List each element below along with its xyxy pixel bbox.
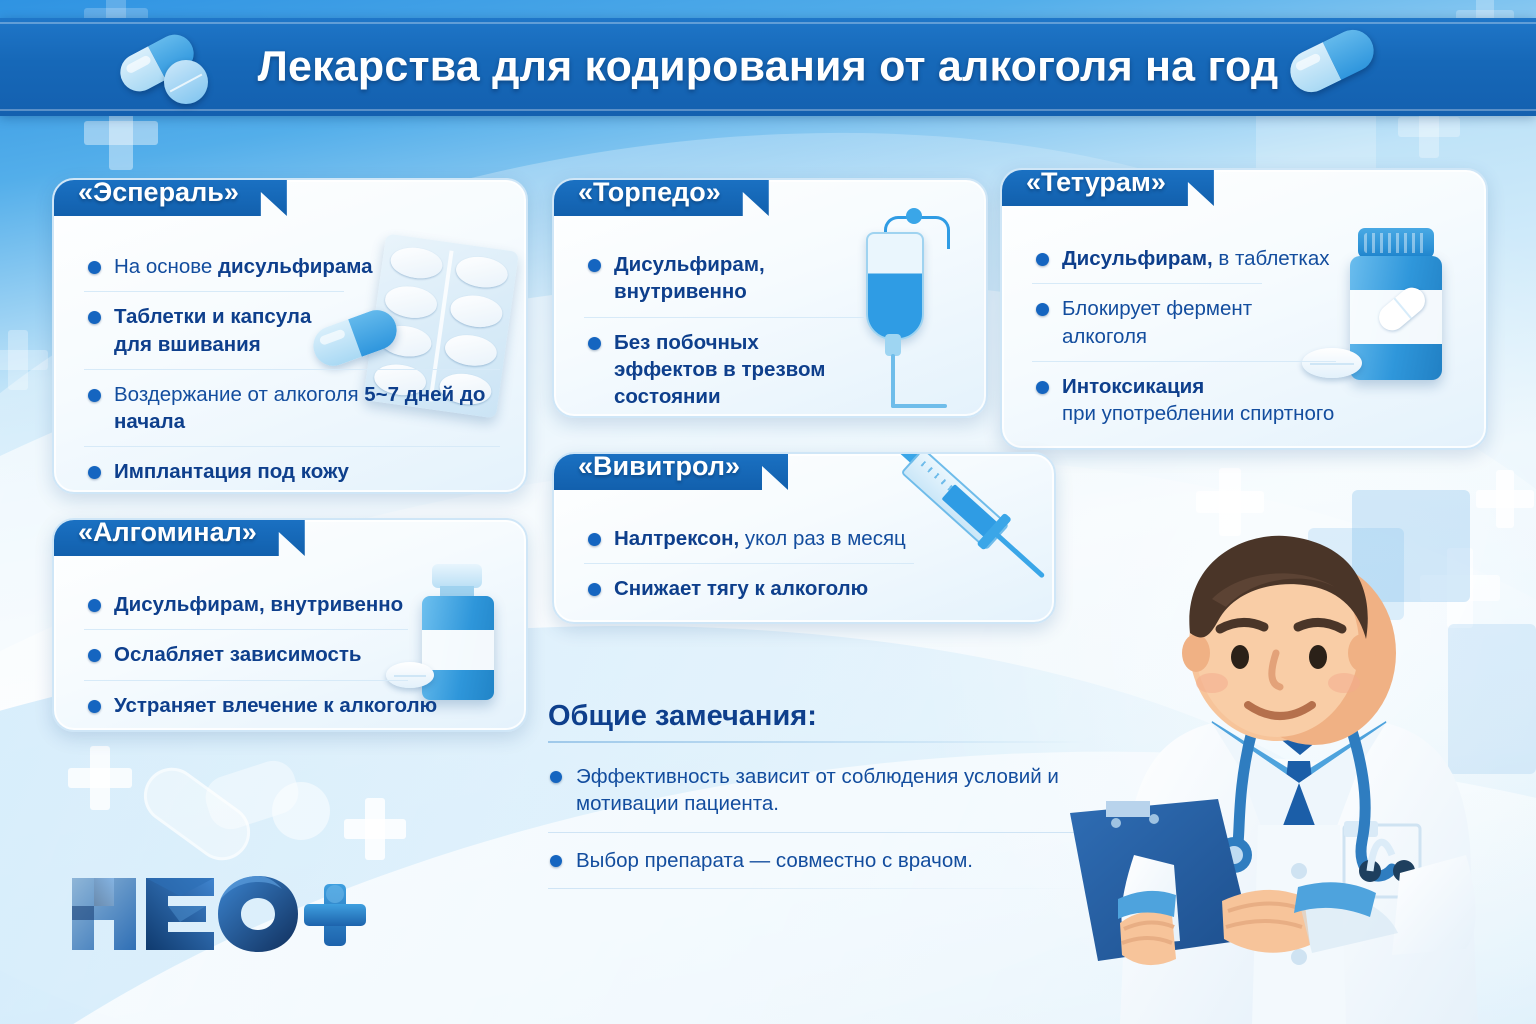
- bullet-icon: [588, 259, 601, 272]
- card-teturam[interactable]: «Тетурам» Дисульфирам, в таблетках: [1000, 168, 1488, 450]
- list-item: Налтрексон, укол раз в месяц: [584, 514, 914, 563]
- infographic-poster: Лекарства для кодирования от алкоголя на…: [0, 0, 1536, 1024]
- doctor-with-clipboard-illustration: [1062, 525, 1536, 1024]
- bullet-icon: [1036, 253, 1049, 266]
- header-right-capsule-icon: [1288, 40, 1376, 82]
- list-item-text: Имплантация под кожу: [114, 458, 500, 485]
- tablet-ghost-icon: [272, 782, 330, 840]
- page-header: Лекарства для кодирования от алкоголя на…: [0, 18, 1536, 116]
- list-item-text: Налтрексон, укол раз в месяц: [614, 525, 914, 552]
- general-notes-title: Общие замечания:: [548, 700, 1088, 741]
- list-item-text: Интоксикация при употреблении спиртного: [1062, 373, 1336, 428]
- list-item-text: Дисульфирам, в таблетках: [1062, 245, 1336, 272]
- cross-icon: [1476, 470, 1534, 528]
- list-item: Без побочных эффектов в трезвом состояни…: [584, 317, 864, 419]
- list-item-text: Блокирует фермент алкоголя: [1062, 295, 1262, 350]
- list-item-text: Дисульфирам, внутривенно: [614, 251, 866, 306]
- cross-icon: [68, 746, 132, 810]
- list-item: Воздержание от алкоголя 5~7 дней до нача…: [84, 369, 500, 447]
- card-torpedo[interactable]: «Торпедо» Дисульфирам, внутривенно Без п…: [552, 178, 988, 418]
- card-vivitrol-title-ribbon: «Вивитрол»: [552, 452, 788, 490]
- card-algominal-items: Дисульфирам, внутривенно Ослабляет завис…: [54, 580, 526, 730]
- list-item-text: Без побочных эффектов в трезвом состояни…: [614, 329, 864, 411]
- list-item-text: Ослабляет зависимость: [114, 641, 408, 668]
- list-item: Дисульфирам, внутривенно: [84, 580, 408, 629]
- card-esperal-items: На основе дисульфирама Таблетки и капсул…: [54, 242, 526, 494]
- card-algominal[interactable]: «Алгоминал» Дисульфирам, внутривенно Осл…: [52, 518, 528, 732]
- bullet-icon: [588, 337, 601, 350]
- card-torpedo-items: Дисульфирам, внутривенно Без побочных эф…: [554, 240, 986, 418]
- bullet-icon: [88, 466, 101, 479]
- list-item: Имплантация под кожу: [84, 446, 500, 494]
- bullet-icon: [88, 700, 101, 713]
- bullet-icon: [88, 649, 101, 662]
- divider: [548, 888, 1088, 889]
- list-item: Выбор препарата — совместно с врачом.: [548, 832, 1088, 888]
- list-item-text: На основе дисульфирама: [114, 253, 500, 280]
- logo-neo-plus-icon: [68, 872, 368, 956]
- list-item: Интоксикация при употреблении спиртного: [1032, 361, 1336, 439]
- card-esperal[interactable]: «Эспераль»: [52, 178, 528, 494]
- bullet-icon: [588, 533, 601, 546]
- list-item: Устраняет влечение к алкоголю: [84, 680, 408, 730]
- list-item-text: Таблетки и капсула для вшивания: [114, 303, 344, 358]
- list-item: Снижает тягу к алкоголю: [584, 563, 914, 613]
- list-item: Дисульфирам, внутривенно: [584, 240, 866, 317]
- cross-icon: [0, 330, 48, 390]
- bullet-icon: [88, 599, 101, 612]
- list-item: Таблетки и капсула для вшивания: [84, 291, 344, 369]
- list-item-text: Дисульфирам, внутривенно: [114, 591, 408, 618]
- bullet-icon: [588, 583, 601, 596]
- list-item-text: Эффективность зависит от соблюдения усло…: [576, 763, 1088, 818]
- capsule-ghost-icon: [133, 757, 261, 872]
- list-item-text: Устраняет влечение к алкоголю: [114, 692, 408, 719]
- list-item-text: Воздержание от алкоголя 5~7 дней до нача…: [114, 381, 500, 436]
- bullet-icon: [88, 261, 101, 274]
- list-item: Эффективность зависит от соблюдения усло…: [548, 749, 1088, 832]
- card-esperal-title-ribbon: «Эспераль»: [52, 178, 287, 216]
- list-item: Ослабляет зависимость: [84, 629, 408, 679]
- list-item: Дисульфирам, в таблетках: [1032, 234, 1336, 283]
- card-teturam-title-ribbon: «Тетурам»: [1000, 168, 1214, 206]
- card-teturam-items: Дисульфирам, в таблетках Блокирует ферме…: [1002, 234, 1486, 438]
- general-notes-section: Общие замечания: Эффективность зависит о…: [548, 700, 1088, 889]
- bullet-icon: [1036, 381, 1049, 394]
- bullet-icon: [550, 855, 562, 867]
- bullet-icon: [88, 311, 101, 324]
- list-item: Блокирует фермент алкоголя: [1032, 283, 1262, 361]
- list-item: На основе дисульфирама: [84, 242, 500, 291]
- card-vivitrol[interactable]: «Вивитрол» Налтрексон, укол раз в месяц: [552, 452, 1056, 624]
- bullet-icon: [1036, 303, 1049, 316]
- card-torpedo-title-ribbon: «Торпедо»: [552, 178, 769, 216]
- card-algominal-title-ribbon: «Алгоминал»: [52, 518, 305, 556]
- cross-icon: [344, 798, 406, 860]
- general-notes-list: Эффективность зависит от соблюдения усло…: [548, 743, 1088, 888]
- brand-logo[interactable]: [68, 872, 368, 956]
- list-item-text: Выбор препарата — совместно с врачом.: [576, 847, 1088, 874]
- list-item-text: Снижает тягу к алкоголю: [614, 575, 914, 602]
- capsule-ghost-icon: [200, 755, 304, 835]
- card-vivitrol-items: Налтрексон, укол раз в месяц Снижает тяг…: [554, 514, 1054, 614]
- bullet-icon: [88, 389, 101, 402]
- bullet-icon: [550, 771, 562, 783]
